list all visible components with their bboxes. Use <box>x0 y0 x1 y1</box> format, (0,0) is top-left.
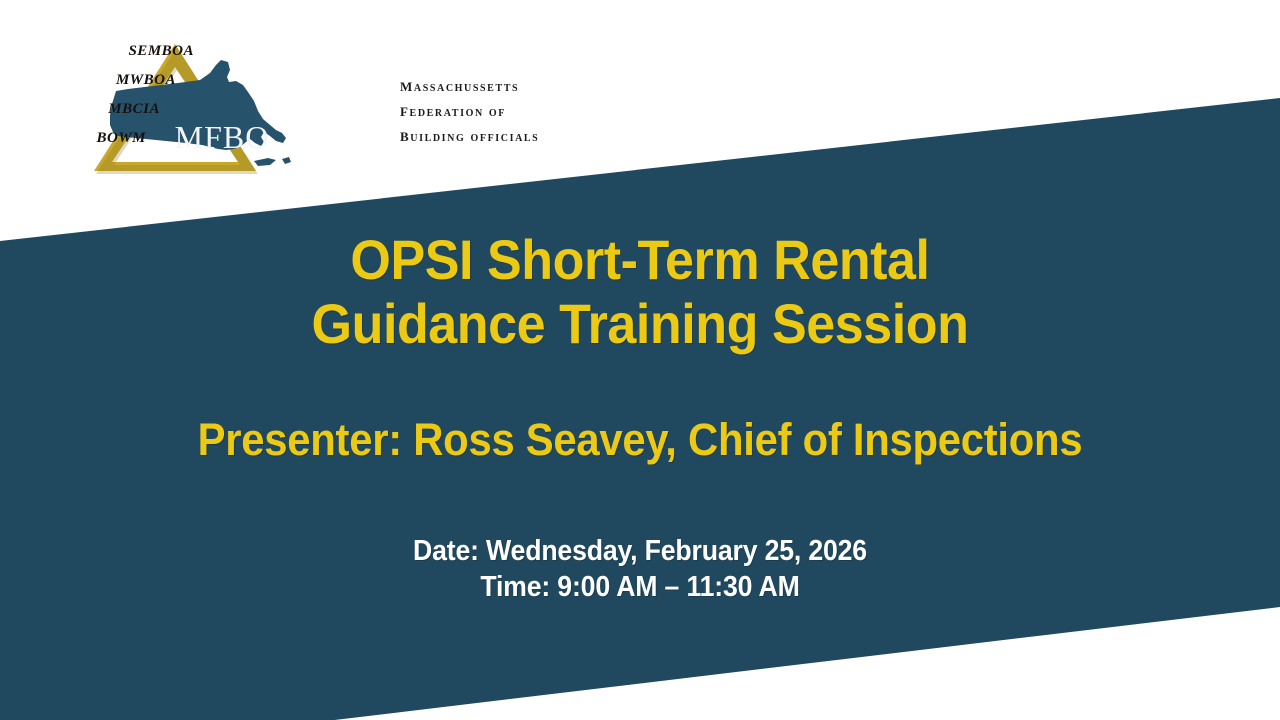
slide-title: OPSI Short-Term Rental Guidance Training… <box>45 228 1235 356</box>
title-line-1: OPSI Short-Term Rental <box>45 228 1235 292</box>
title-line-2: Guidance Training Session <box>45 292 1235 356</box>
date-line: Date: Wednesday, February 25, 2026 <box>51 533 1229 569</box>
date-time-block: Date: Wednesday, February 25, 2026 Time:… <box>51 533 1229 605</box>
presentation-slide: SEMBOA MWBOA MBCIA BOWM MFBO Massachusse… <box>0 0 1280 720</box>
slide-content: OPSI Short-Term Rental Guidance Training… <box>0 0 1280 720</box>
time-line: Time: 9:00 AM – 11:30 AM <box>51 569 1229 605</box>
presenter-line: Presenter: Ross Seavey, Chief of Inspect… <box>45 414 1235 466</box>
